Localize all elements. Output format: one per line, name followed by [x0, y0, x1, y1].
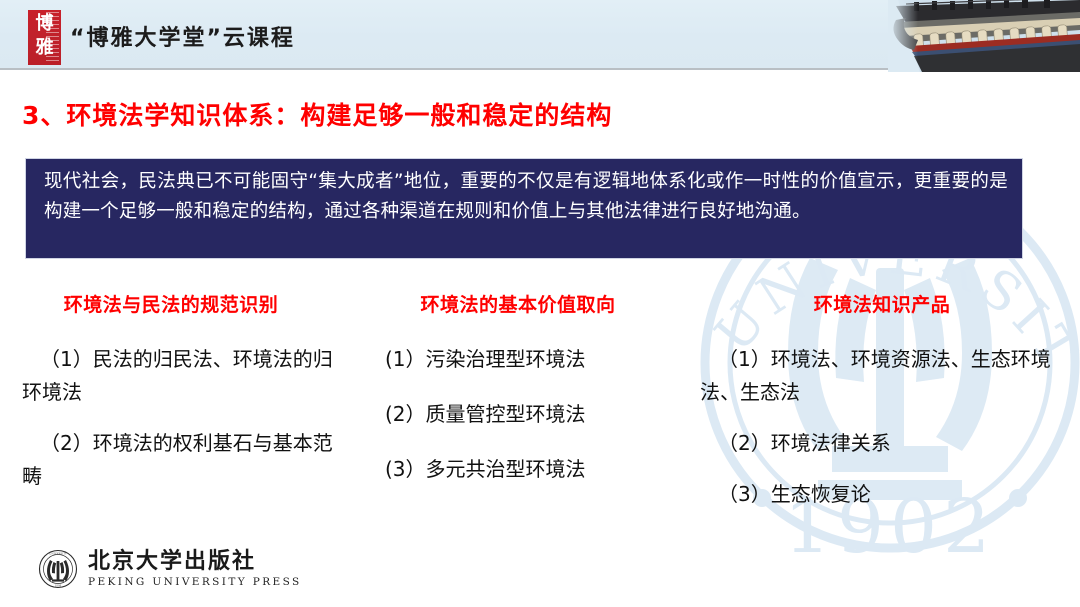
column-value-orientation: 环境法的基本价值取向 (1）污染治理型环境法 (2）质量管控型环境法 (3）多元…	[385, 290, 675, 508]
page-header: 博 雅 “博雅大学堂”云课程	[0, 0, 1080, 70]
column-1-item-1: （1）民法的归民法、环境法的归环境法	[22, 343, 342, 409]
column-1-item-2: （2）环境法的权利基石与基本范畴	[22, 427, 342, 493]
quote-callout-box: 现代社会，民法典已不可能固守“集大成者”地位，重要的不仅是有逻辑地体系化或作一时…	[25, 158, 1023, 259]
header-title: “博雅大学堂”云课程	[70, 20, 295, 52]
quote-text: 现代社会，民法典已不可能固守“集大成者”地位，重要的不仅是有逻辑地体系化或作一时…	[26, 159, 1022, 227]
publisher-footer: UNIVERSITY 1898 北京大学出版社 PEKING UNIVERSIT…	[38, 545, 302, 593]
logo-char-top: 博	[28, 15, 61, 33]
publisher-text: 北京大学出版社 PEKING UNIVERSITY PRESS	[88, 550, 302, 587]
roof-eave-photo	[888, 0, 1080, 72]
column-3-item-1: （1）环境法、环境资源法、生态环境法、生态法	[700, 343, 1070, 409]
column-2-item-3: (3）多元共治型环境法	[385, 453, 675, 486]
svg-text:UNIVERSITY: UNIVERSITY	[49, 551, 67, 555]
column-norm-identification: 环境法与民法的规范识别 （1）民法的归民法、环境法的归环境法 （2）环境法的权利…	[22, 290, 342, 511]
logo-char-bottom: 雅	[28, 39, 61, 57]
column-2-item-2: (2）质量管控型环境法	[385, 398, 675, 431]
column-1-heading: 环境法与民法的规范识别	[22, 290, 342, 317]
column-knowledge-products: 环境法知识产品 （1）环境法、环境资源法、生态环境法、生态法 （2）环境法律关系…	[700, 290, 1070, 529]
column-3-item-2: （2）环境法律关系	[700, 427, 1070, 460]
column-3-item-3: （3）生态恢复论	[700, 478, 1070, 511]
svg-text:1898: 1898	[55, 583, 62, 587]
column-2-heading: 环境法的基本价值取向	[385, 290, 675, 317]
publisher-name-cn: 北京大学出版社	[88, 550, 302, 573]
column-3-heading: 环境法知识产品	[700, 290, 1070, 317]
slide-title: 3、环境法学知识体系：构建足够一般和稳定的结构	[22, 96, 612, 132]
publisher-name-en: PEKING UNIVERSITY PRESS	[88, 577, 302, 588]
column-2-item-1: (1）污染治理型环境法	[385, 343, 675, 376]
boya-seal-logo: 博 雅	[28, 10, 61, 65]
peking-university-seal-icon: UNIVERSITY 1898	[38, 549, 78, 589]
